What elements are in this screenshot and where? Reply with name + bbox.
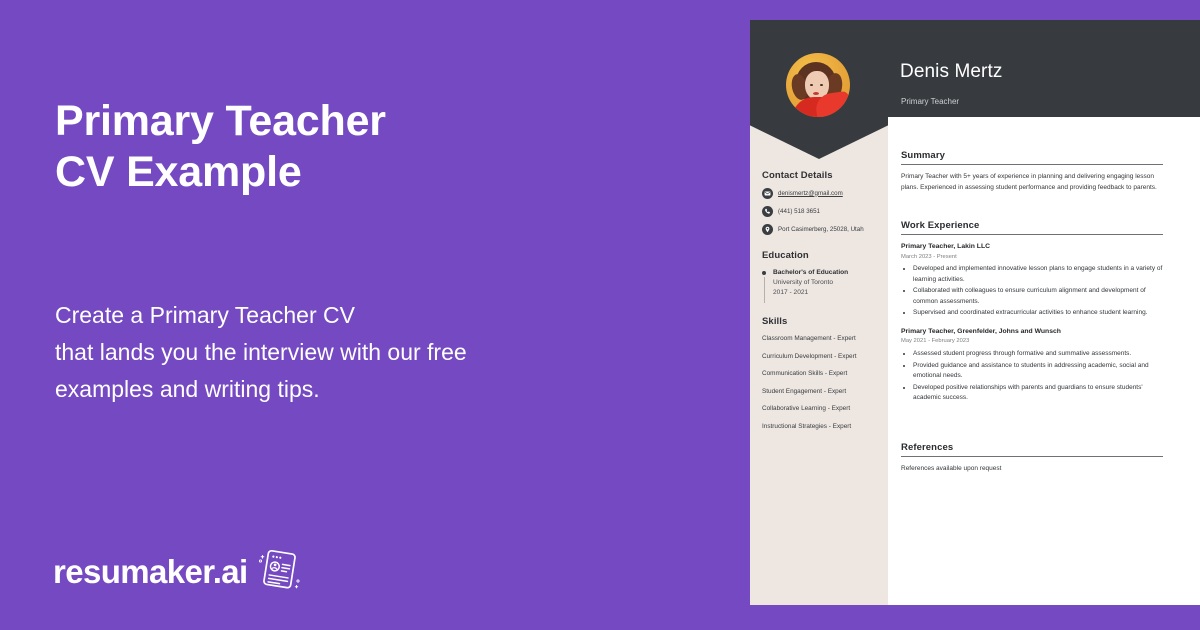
- job-bullet: Collaborated with colleagues to ensure c…: [913, 286, 1163, 307]
- contact-address: Port Casimerberg, 25028, Utah: [778, 226, 864, 234]
- promo-banner: Primary Teacher CV Example Create a Prim…: [0, 0, 1200, 630]
- skill-item: Classroom Management - Expert: [762, 334, 880, 344]
- promo-subtitle: Create a Primary Teacher CV that lands y…: [55, 297, 695, 408]
- job-dates: March 2023 - Present: [901, 253, 1163, 262]
- job-title: Primary Teacher, Lakin LLC: [901, 242, 1163, 252]
- job-entry: Primary Teacher, Greenfelder, Johns and …: [901, 327, 1163, 404]
- contact-row-address: Port Casimerberg, 25028, Utah: [762, 224, 880, 235]
- contact-row-phone: (441) 518 3651: [762, 206, 880, 217]
- job-entry: Primary Teacher, Lakin LLC March 2023 - …: [901, 242, 1163, 319]
- resume-document-icon: [254, 546, 302, 597]
- job-dates: May 2021 - February 2023: [901, 337, 1163, 346]
- job-bullet: Developed and implemented innovative les…: [913, 264, 1163, 285]
- brand-logo[interactable]: resumaker.ai: [53, 546, 302, 597]
- skill-item: Student Engagement - Expert: [762, 387, 880, 397]
- skills-section: Skills Classroom Management - Expert Cur…: [762, 316, 880, 440]
- references-heading: References: [901, 442, 1163, 457]
- contact-details-heading: Contact Details: [762, 170, 880, 181]
- phone-icon: [762, 206, 773, 217]
- education-school: University of Toronto: [773, 278, 880, 288]
- timeline-dot-icon: [762, 271, 766, 275]
- resume-preview-card[interactable]: Denis Mertz Primary Teacher Contact Deta…: [750, 20, 1200, 605]
- envelope-icon: [762, 188, 773, 199]
- job-bullet: Provided guidance and assistance to stud…: [913, 361, 1163, 382]
- skill-item: Communication Skills - Expert: [762, 369, 880, 379]
- page-title: Primary Teacher CV Example: [55, 96, 675, 198]
- job-bullet: Developed positive relationships with pa…: [913, 383, 1163, 404]
- contact-phone: (441) 518 3651: [778, 208, 820, 216]
- contact-details-section: Contact Details denismertz@gmail.com (44…: [762, 170, 880, 242]
- education-entry: Bachelor's of Education University of To…: [762, 268, 880, 298]
- education-degree: Bachelor's of Education: [773, 268, 880, 278]
- location-pin-icon: [762, 224, 773, 235]
- promo-panel: Primary Teacher CV Example Create a Prim…: [0, 0, 750, 630]
- education-heading: Education: [762, 250, 880, 261]
- job-bullet: Assessed student progress through format…: [913, 349, 1163, 360]
- resume-role: Primary Teacher: [901, 98, 959, 106]
- work-experience-heading: Work Experience: [901, 220, 1163, 235]
- job-bullets: Developed and implemented innovative les…: [901, 264, 1163, 319]
- education-dates: 2017 - 2021: [773, 288, 880, 298]
- references-text: References available upon request: [901, 464, 1163, 475]
- education-section: Education Bachelor's of Education Univer…: [762, 250, 880, 298]
- contact-email[interactable]: denismertz@gmail.com: [778, 190, 843, 198]
- job-bullet: Supervised and coordinated extracurricul…: [913, 308, 1163, 319]
- skills-heading: Skills: [762, 316, 880, 327]
- skill-item: Instructional Strategies - Expert: [762, 422, 880, 432]
- references-section: References References available upon req…: [901, 442, 1163, 475]
- summary-text: Primary Teacher with 5+ years of experie…: [901, 172, 1163, 193]
- avatar: [786, 53, 850, 117]
- summary-heading: Summary: [901, 150, 1163, 165]
- brand-name: resumaker.ai: [53, 555, 248, 588]
- job-title: Primary Teacher, Greenfelder, Johns and …: [901, 327, 1163, 337]
- work-experience-section: Work Experience Primary Teacher, Lakin L…: [901, 220, 1163, 405]
- contact-row-email[interactable]: denismertz@gmail.com: [762, 188, 880, 199]
- skill-item: Curriculum Development - Expert: [762, 352, 880, 362]
- timeline-line: [764, 277, 765, 303]
- skill-item: Collaborative Learning - Expert: [762, 404, 880, 414]
- job-bullets: Assessed student progress through format…: [901, 349, 1163, 404]
- resume-name: Denis Mertz: [900, 62, 1002, 81]
- summary-section: Summary Primary Teacher with 5+ years of…: [901, 150, 1163, 193]
